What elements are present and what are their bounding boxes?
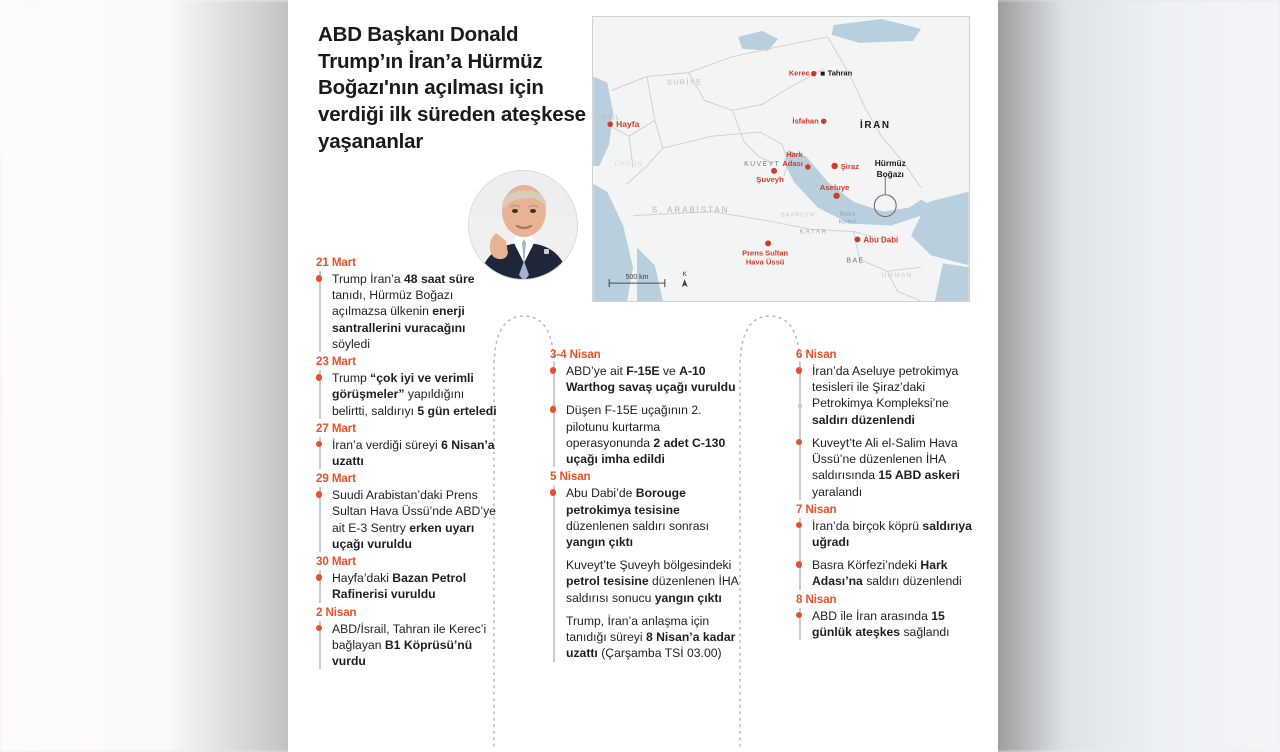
timeline-text: Hayfa’daki <box>332 571 392 585</box>
timeline-text: İran’da birçok köprü <box>812 519 922 533</box>
timeline-item: Trump, İran’a anlaşma için tanıdığı süre… <box>566 613 746 662</box>
bullet-dot-icon <box>550 367 557 374</box>
background-right-shade <box>990 0 1280 752</box>
svg-text:Tahran: Tahran <box>828 69 853 78</box>
timeline-item: ABD ile İran arasında 15 günlük ateşkes … <box>812 608 981 640</box>
timeline-item: ABD’ye ait F-15E ve A-10 Warthog savaş u… <box>566 363 746 395</box>
timeline-item-list: ABD ile İran arasında 15 günlük ateşkes … <box>799 608 981 640</box>
timeline-text: söyledi <box>332 337 370 351</box>
timeline-item-list: Abu Dabi’de Borouge petrokimya tesisine … <box>553 485 746 661</box>
timeline-group: 3-4 NisanABD’ye ait F-15E ve A-10 Wartho… <box>550 348 746 467</box>
infographic-card: ABD Başkanı Donald Trump’ın İran’a Hürmü… <box>288 0 998 752</box>
timeline-item: Trump “çok iyi ve verimli görüşmeler” ya… <box>332 370 501 419</box>
timeline-text: İran’da Aseluye petrokimya tesisleri ile… <box>812 364 958 410</box>
timeline-item: İran’da Aseluye petrokimya tesisleri ile… <box>812 363 981 428</box>
timeline-item: Kuveyt’te Ali el-Salim Hava Üssü’ne düze… <box>812 435 981 500</box>
region-map: SURİYE İSRAİL ÜRDÜN S. ARABİSTAN KUVEYT … <box>592 16 970 302</box>
timeline-item-list: ABD’ye ait F-15E ve A-10 Warthog savaş u… <box>553 363 746 467</box>
timeline-text-emphasis: petrol tesisine <box>566 574 649 588</box>
svg-text:Kerec: Kerec <box>789 69 810 78</box>
timeline-item-list: Suudi Arabistan’daki Prens Sultan Hava Ü… <box>319 487 501 552</box>
timeline-item-list: Trump “çok iyi ve verimli görüşmeler” ya… <box>319 370 501 419</box>
svg-text:BAE: BAE <box>846 257 864 264</box>
timeline-date-heading: 8 Nisan <box>796 593 981 606</box>
timeline-date-heading: 6 Nisan <box>796 348 981 361</box>
timeline-item-list: ABD/İsrail, Tahran ile Kerec’i bağlayan … <box>319 621 501 670</box>
timeline-group: 21 MartTrump İran’a 48 saat süre tanıdı,… <box>316 256 501 352</box>
timeline-text: Trump İran’a <box>332 272 404 286</box>
svg-text:Hayfa: Hayfa <box>616 119 639 129</box>
svg-text:İRAN: İRAN <box>860 120 891 131</box>
svg-text:S. ARABİSTAN: S. ARABİSTAN <box>652 206 730 215</box>
bullet-dot-icon <box>796 522 803 529</box>
timeline-text: yaralandı <box>812 485 862 499</box>
bullet-dot-icon <box>550 406 557 413</box>
timeline-item: Suudi Arabistan’daki Prens Sultan Hava Ü… <box>332 487 501 552</box>
bullet-dot-icon <box>550 489 557 496</box>
timeline-text: İran’a verdiği süreyi <box>332 438 441 452</box>
timeline-date-heading: 21 Mart <box>316 256 501 269</box>
timeline-text-emphasis: saldırı düzenlendi <box>812 413 915 427</box>
svg-text:Basra: Basra <box>840 212 856 218</box>
timeline-item: Trump İran’a 48 saat süre tanıdı, Hürmüz… <box>332 271 501 352</box>
page-title: ABD Başkanı Donald Trump’ın İran’a Hürmü… <box>318 22 608 155</box>
timeline-text: (Çarşamba TSİ 03.00) <box>598 646 722 660</box>
timeline-text: ve <box>660 364 680 378</box>
svg-text:BAHREYN: BAHREYN <box>781 213 815 219</box>
svg-text:Prens Sultan: Prens Sultan <box>742 248 788 257</box>
timeline-text: saldırı düzenlendi <box>863 574 962 588</box>
timeline-item: İran’da birçok köprü saldırıya uğradı <box>812 518 981 550</box>
timeline-text: düzenlenen saldırı sonrası <box>566 519 709 533</box>
timeline-group: 8 NisanABD ile İran arasında 15 günlük a… <box>796 593 981 640</box>
timeline-text: Abu Dabi’de <box>566 486 636 500</box>
timeline-group: 2 NisanABD/İsrail, Tahran ile Kerec’i ba… <box>316 606 501 670</box>
svg-text:Abu Dabi: Abu Dabi <box>863 235 898 244</box>
svg-text:KATAR: KATAR <box>800 228 828 235</box>
background-left-shade <box>0 0 300 752</box>
timeline-group: 5 NisanAbu Dabi’de Borouge petrokimya te… <box>550 470 746 661</box>
bullet-dot-icon <box>796 367 803 374</box>
timeline-item: Kuveyt’te Şuveyh bölgesindeki petrol tes… <box>566 557 746 606</box>
timeline-column-3: 6 Nisanİran’da Aseluye petrokimya tesisl… <box>796 348 981 643</box>
timeline-date-heading: 5 Nisan <box>550 470 746 483</box>
timeline-item: Hayfa’daki Bazan Petrol Rafinerisi vurul… <box>332 570 501 602</box>
timeline-item-list: İran’da Aseluye petrokimya tesisleri ile… <box>799 363 981 500</box>
timeline-text: ABD ile İran arasında <box>812 609 931 623</box>
svg-text:Şuveyh: Şuveyh <box>756 175 784 184</box>
timeline-item-list: İran’da birçok köprü saldırıya uğradıBas… <box>799 518 981 590</box>
timeline-group: 7 Nisanİran’da birçok köprü saldırıya uğ… <box>796 503 981 590</box>
svg-text:Hark: Hark <box>786 150 804 159</box>
timeline-item: Basra Körfezi’ndeki Hark Adası’na saldır… <box>812 557 981 589</box>
svg-text:Boğazı: Boğazı <box>877 169 904 179</box>
svg-text:Adası: Adası <box>782 159 803 168</box>
svg-text:Körfezi: Körfezi <box>839 220 857 226</box>
timeline-group: 29 MartSuudi Arabistan’daki Prens Sultan… <box>316 472 501 552</box>
timeline-column-1: 21 MartTrump İran’a 48 saat süre tanıdı,… <box>316 256 501 672</box>
timeline-text-emphasis: 48 saat süre <box>404 272 474 286</box>
screenshot-stage: ABD Başkanı Donald Trump’ın İran’a Hürmü… <box>0 0 1280 752</box>
svg-text:KUVEYT: KUVEYT <box>744 161 780 168</box>
timeline-text: Trump <box>332 371 370 385</box>
timeline-text-emphasis: 5 gün erteledi <box>417 404 496 418</box>
timeline-item: Abu Dabi’de Borouge petrokimya tesisine … <box>566 485 746 550</box>
map-svg: SURİYE İSRAİL ÜRDÜN S. ARABİSTAN KUVEYT … <box>593 17 969 301</box>
bullet-dot-icon <box>316 625 323 632</box>
svg-text:K: K <box>682 271 687 278</box>
timeline-text-emphasis: yangın çıktı <box>655 591 722 605</box>
timeline-date-heading: 27 Mart <box>316 422 501 435</box>
bullet-dot-icon <box>796 612 803 619</box>
bullet-dot-icon <box>796 439 803 446</box>
timeline-date-heading: 7 Nisan <box>796 503 981 516</box>
timeline-group: 30 MartHayfa’daki Bazan Petrol Rafineris… <box>316 555 501 602</box>
timeline-text-emphasis: F-15E <box>626 364 659 378</box>
svg-text:500 km: 500 km <box>626 274 649 281</box>
svg-text:Şiraz: Şiraz <box>841 162 860 171</box>
svg-text:Hürmüz: Hürmüz <box>875 158 906 168</box>
timeline-item: ABD/İsrail, Tahran ile Kerec’i bağlayan … <box>332 621 501 670</box>
timeline-date-heading: 23 Mart <box>316 355 501 368</box>
timeline-group: 23 MartTrump “çok iyi ve verimli görüşme… <box>316 355 501 419</box>
svg-text:SURİYE: SURİYE <box>667 78 702 87</box>
bullet-dot-icon <box>316 374 323 381</box>
timeline-item-list: Hayfa’daki Bazan Petrol Rafinerisi vurul… <box>319 570 501 602</box>
timeline-text: ABD’ye ait <box>566 364 626 378</box>
timeline-item: Düşen F-15E uçağının 2. pilotunu kurtarm… <box>566 402 746 467</box>
timeline-item-list: İran’a verdiği süreyi 6 Nisan’a uzattı <box>319 437 501 469</box>
bullet-dot-icon <box>316 275 323 282</box>
timeline-group: 27 Martİran’a verdiği süreyi 6 Nisan’a u… <box>316 422 501 469</box>
bullet-dot-icon <box>316 491 323 498</box>
timeline-item: İran’a verdiği süreyi 6 Nisan’a uzattı <box>332 437 501 469</box>
bullet-dot-icon <box>796 561 803 568</box>
svg-text:Aseluye: Aseluye <box>820 183 850 192</box>
bullet-dot-icon <box>316 441 323 448</box>
timeline-date-heading: 30 Mart <box>316 555 501 568</box>
timeline-column-2: 3-4 NisanABD’ye ait F-15E ve A-10 Wartho… <box>550 348 746 665</box>
bullet-dot-icon <box>316 574 323 581</box>
svg-text:UMMAN: UMMAN <box>882 272 913 279</box>
timeline-date-heading: 29 Mart <box>316 472 501 485</box>
timeline-date-heading: 3-4 Nisan <box>550 348 746 361</box>
svg-text:ÜRDÜN: ÜRDÜN <box>614 160 643 168</box>
timeline-date-heading: 2 Nisan <box>316 606 501 619</box>
timeline-item-list: Trump İran’a 48 saat süre tanıdı, Hürmüz… <box>319 271 501 352</box>
svg-text:İsfahan: İsfahan <box>792 116 819 125</box>
timeline-text-emphasis: 15 ABD askeri <box>878 468 960 482</box>
timeline-text: sağlandı <box>900 625 949 639</box>
timeline-text: Kuveyt’te Şuveyh bölgesindeki <box>566 558 731 572</box>
timeline-group: 6 Nisanİran’da Aseluye petrokimya tesisl… <box>796 348 981 500</box>
timeline-text: Basra Körfezi’ndeki <box>812 558 920 572</box>
svg-text:Hava Üssü: Hava Üssü <box>746 257 785 266</box>
timeline-text-emphasis: yangın çıktı <box>566 535 633 549</box>
